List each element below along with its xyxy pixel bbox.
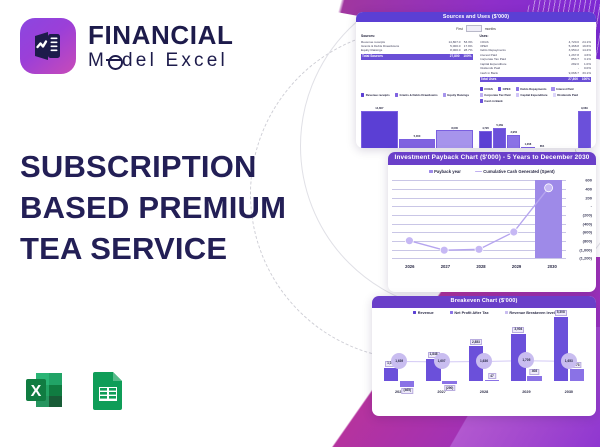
bar-group: 1,848(290)1,607 [420, 317, 462, 387]
legend-item: COGS [480, 87, 493, 91]
legend-item: Capital Expenditure [516, 93, 548, 97]
legend-item: Revenue Breakeven level [505, 311, 555, 315]
breakeven-bubble: 1,607 [434, 353, 450, 369]
bar-column: 9,069 [579, 105, 590, 148]
legend-item: Payback year [429, 169, 461, 174]
sources-bar-chart: 14,8075,0008,000 [362, 105, 472, 148]
headline-line-2: BASED PREMIUM [20, 187, 350, 228]
investment-payback-card[interactable]: Investment Payback Chart ($'000) - 5 Yea… [388, 152, 596, 292]
x-tick-label: 2030 [548, 390, 590, 394]
npat-bar [527, 376, 541, 381]
legend-item: Debts Repayments [516, 87, 547, 91]
bar-value-label: 854 [540, 145, 544, 148]
legend-item: OPEX [498, 87, 511, 91]
sources-chart-legend: Revenue receiptsGrants & Debts Drawdowns… [361, 87, 473, 103]
legend-item: Cumulative Cash Generated (Spent) [475, 169, 555, 174]
bar-group: 5,3089731,653 [548, 317, 590, 387]
uses-column: Uses: COGS4,720.024.1%OPEX5,468.819.6%De… [480, 34, 592, 81]
cumulative-cash-line [392, 176, 592, 262]
npat-value-label: (465) [402, 388, 413, 394]
x-tick-label: 2028 [463, 390, 505, 394]
bar-column: 8,000 [437, 105, 472, 148]
bar-value-label: 3,950 [510, 131, 517, 134]
payback-x-axis: 20262027202820292030 [392, 264, 570, 269]
bar [399, 139, 436, 148]
table-row: Equity Raisings8,000.028.7% [361, 48, 473, 52]
o-glyph-icon [107, 51, 122, 70]
filter-label-right: months [485, 27, 496, 31]
x-tick-label: 2026 [392, 264, 428, 269]
legend-item: Net Profit After Tax [450, 311, 489, 315]
x-tick-label: 2030 [534, 264, 570, 269]
payback-legend: Payback yearCumulative Cash Generated (S… [388, 165, 596, 176]
x-tick-label: 2029 [499, 264, 535, 269]
filter-value-input[interactable] [466, 25, 482, 32]
filter-label-left: First [456, 27, 463, 31]
bar-group: 2,853471,636 [463, 317, 505, 387]
svg-text:X: X [31, 383, 42, 400]
breakeven-title: Breakeven Chart ($'000) [372, 296, 596, 308]
legend-item: Equity Raisings [443, 87, 469, 103]
breakeven-bubble: 1,639 [391, 353, 407, 369]
sources-header: Sources: [361, 34, 473, 38]
sources-uses-filter[interactable]: First months [361, 25, 591, 32]
bar-value-label: 1,268 [525, 143, 532, 146]
bar [436, 130, 473, 148]
x-tick-label: 2028 [463, 264, 499, 269]
bar [361, 111, 398, 148]
uses-chart-legend: COGSOPEXDebts RepaymentsInterest PaidCor… [480, 87, 592, 103]
sources-and-uses-card[interactable]: Sources and Uses ($'000) First months So… [356, 12, 596, 148]
npat-bar [442, 381, 456, 385]
bar [479, 131, 492, 148]
bar-value-label: 8,000 [451, 127, 458, 130]
bar-column: - [565, 105, 576, 148]
table-row: Cash in Bank9,068.733.1% [480, 71, 592, 75]
npat-value-label: 47 [488, 373, 496, 379]
x-tick-label: 2027 [428, 264, 464, 269]
bar-column: 1,268 [522, 105, 533, 148]
x-tick-label: 2027 [420, 390, 462, 394]
breakeven-plot: 1,080(465)1,6391,848(290)1,6072,853471,6… [378, 317, 590, 387]
npat-bar [400, 381, 414, 387]
bar [578, 111, 591, 148]
bar-value-label: 5,469 [496, 124, 503, 127]
revenue-value-label: 2,853 [470, 339, 482, 345]
bar-value-label: 9,069 [581, 107, 588, 110]
legend-item: Revenue receipts [361, 87, 390, 103]
bar-column: 5,000 [400, 105, 435, 148]
app-compatibility-icons: X [22, 368, 130, 412]
sources-column: Sources: Revenue receipts14,807.053.3%Gr… [361, 34, 473, 81]
bar-value-label: 5,000 [414, 135, 421, 138]
bar-column: 14,807 [362, 105, 397, 148]
bar-column: 854 [537, 105, 548, 148]
uses-total-row: Total Uses 27,800 100% [480, 77, 592, 82]
bar-group: 3,9044081,705 [505, 317, 547, 387]
bar [507, 135, 520, 148]
sources-uses-title: Sources and Uses ($'000) [356, 12, 596, 22]
bar [493, 128, 506, 148]
x-tick-label: 2026 [378, 390, 420, 394]
brand-sub-before: M [88, 51, 107, 70]
npat-bar [570, 369, 584, 381]
legend-item: Interest Paid [551, 87, 573, 91]
x-tick-label: 2029 [505, 390, 547, 394]
headline-line-3: TEA SERVICE [20, 228, 350, 269]
legend-item: Dividends Paid [553, 93, 579, 97]
payback-title: Investment Payback Chart ($'000) - 5 Yea… [388, 152, 596, 165]
bar-column: 3,950 [508, 105, 519, 148]
revenue-value-label: 3,904 [512, 327, 524, 333]
poster-canvas: FINANCIAL M del Excel SUBSCRIPTION BASED… [0, 0, 600, 447]
bar [521, 147, 534, 148]
bar-value-label: 14,807 [375, 107, 383, 110]
uses-bar-chart: 4,7205,4693,9501,268854282-9,069 [480, 105, 590, 148]
bar-group: 1,080(465)1,639 [378, 317, 420, 387]
breakeven-bubble: 1,653 [561, 353, 577, 369]
breakeven-bubble: 1,636 [476, 353, 492, 369]
npat-value-label: (290) [444, 385, 455, 391]
revenue-value-label: 5,308 [555, 310, 567, 316]
brand-logo: FINANCIAL M del Excel [20, 18, 234, 74]
legend-item: Cash in Bank [480, 99, 503, 103]
legend-item: Grants & Debts Drawdowns [395, 87, 438, 103]
bar-column: 282 [551, 105, 562, 148]
revenue-bar [384, 368, 398, 381]
bar-column: 5,469 [494, 105, 505, 148]
bar-value-label: 4,720 [482, 127, 489, 130]
page-title: SUBSCRIPTION BASED PREMIUM TEA SERVICE [20, 146, 350, 269]
brand-name-primary: FINANCIAL [88, 22, 234, 48]
breakeven-card[interactable]: Breakeven Chart ($'000) RevenueNet Profi… [372, 296, 596, 416]
uses-header: Uses: [480, 34, 592, 38]
npat-value-label: 408 [530, 369, 539, 375]
breakeven-bubble: 1,705 [518, 352, 534, 368]
revenue-bar [554, 317, 568, 381]
legend-item: Corporate Tax Paid [480, 93, 511, 97]
headline-line-1: SUBSCRIPTION [20, 146, 350, 187]
brand-name-secondary: M del Excel [88, 51, 234, 70]
sources-total-row: Total Sources 27,800 100% [361, 54, 473, 59]
brand-sub-after: del Excel [122, 51, 228, 70]
npat-bar [485, 380, 499, 381]
payback-plot: 600400200-(200)(400)(600)(800)(1,000)(1,… [392, 176, 592, 262]
google-sheets-icon [86, 368, 130, 412]
bar-column: 4,720 [480, 105, 491, 148]
legend-item: Revenue [413, 311, 434, 315]
chart-document-icon [20, 18, 76, 74]
microsoft-excel-icon: X [22, 368, 66, 412]
